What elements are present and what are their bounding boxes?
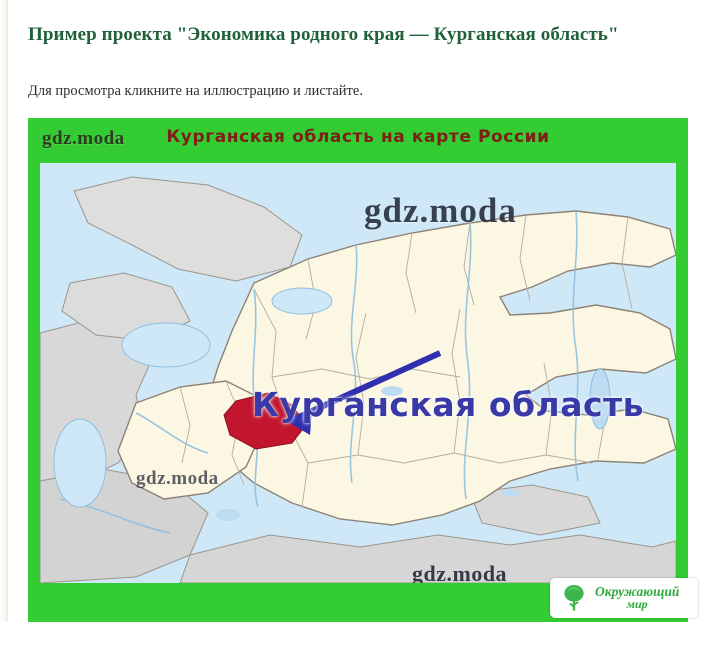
page-left-edge [0, 0, 8, 621]
illustration-title: Курганская область на карте России [28, 127, 688, 147]
okruzhayushchiy-mir-logo[interactable]: Окружающий мир [550, 578, 698, 618]
map-region-label: Курганская область [252, 385, 644, 424]
page-subtitle: Для просмотра кликните на иллюстрацию и … [28, 82, 363, 100]
russia-map-graphic [40, 163, 676, 583]
illustration-viewer[interactable]: gdz.moda Курганская область на карте Рос… [28, 118, 688, 622]
illustration-title-bar: gdz.moda Курганская область на карте Рос… [28, 118, 688, 163]
logo-label: Окружающий мир [595, 585, 679, 611]
logo-label-line2: мир [595, 598, 679, 611]
page-title: Пример проекта "Экономика родного края —… [28, 22, 628, 47]
tree-icon [558, 582, 590, 614]
map-image[interactable]: gdz.moda gdz.moda gdz.moda Курганская об… [40, 163, 676, 583]
watermark-gdz-moda-mid: gdz.moda [136, 468, 219, 490]
watermark-gdz-moda-low: gdz.moda [412, 561, 507, 583]
watermark-gdz-moda-large: gdz.moda [364, 191, 517, 231]
